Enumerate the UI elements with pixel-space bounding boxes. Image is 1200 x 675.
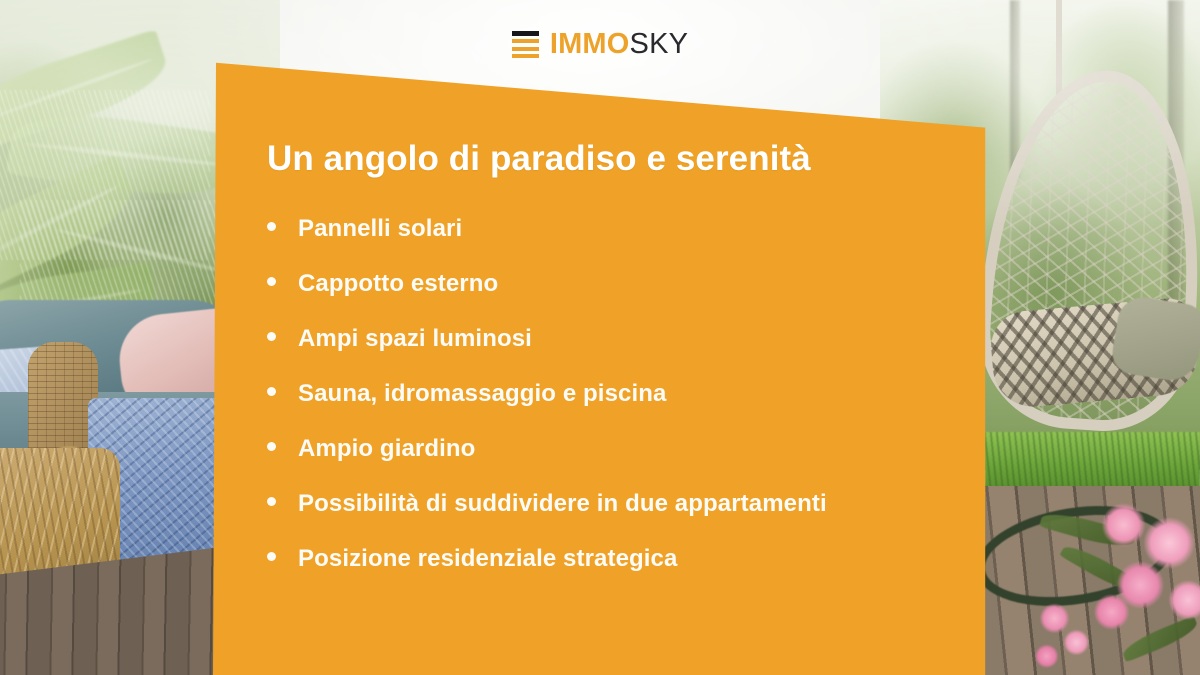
slide-canvas: IMMOSKY Un angolo di paradiso e serenità… <box>0 0 1200 675</box>
list-item-label: Posizione residenziale strategica <box>298 547 677 571</box>
bullet-dot-icon <box>267 332 276 341</box>
panel-content: Un angolo di paradiso e serenità Pannell… <box>0 0 1200 675</box>
logo-word-sky: SKY <box>630 28 689 60</box>
list-item: Ampi spazi luminosi <box>267 327 1200 351</box>
list-item-label: Cappotto esterno <box>298 272 498 296</box>
feature-list: Pannelli solari Cappotto esterno Ampi sp… <box>267 217 1200 571</box>
list-item: Cappotto esterno <box>267 272 1200 296</box>
logo-wordmark: IMMOSKY <box>550 30 688 59</box>
bullet-dot-icon <box>267 442 276 451</box>
bullet-dot-icon <box>267 277 276 286</box>
logo-word-immo: IMMO <box>550 28 630 60</box>
immosky-bars-logo-icon <box>512 31 539 59</box>
list-item-label: Ampio giardino <box>298 437 475 461</box>
list-item-label: Possibilità di suddividere in due appart… <box>298 492 827 516</box>
list-item-label: Ampi spazi luminosi <box>298 327 532 351</box>
bullet-dot-icon <box>267 387 276 396</box>
list-item: Posizione residenziale strategica <box>267 547 1200 571</box>
bullet-dot-icon <box>267 497 276 506</box>
bullet-dot-icon <box>267 222 276 231</box>
page-title: Un angolo di paradiso e serenità <box>267 140 1200 179</box>
list-item: Possibilità di suddividere in due appart… <box>267 492 1200 516</box>
list-item-label: Sauna, idromassaggio e piscina <box>298 382 666 406</box>
list-item: Sauna, idromassaggio e piscina <box>267 382 1200 406</box>
list-item-label: Pannelli solari <box>298 217 462 241</box>
list-item: Ampio giardino <box>267 437 1200 461</box>
bullet-dot-icon <box>267 552 276 561</box>
list-item: Pannelli solari <box>267 217 1200 241</box>
immosky-logo[interactable]: IMMOSKY <box>0 30 1200 59</box>
